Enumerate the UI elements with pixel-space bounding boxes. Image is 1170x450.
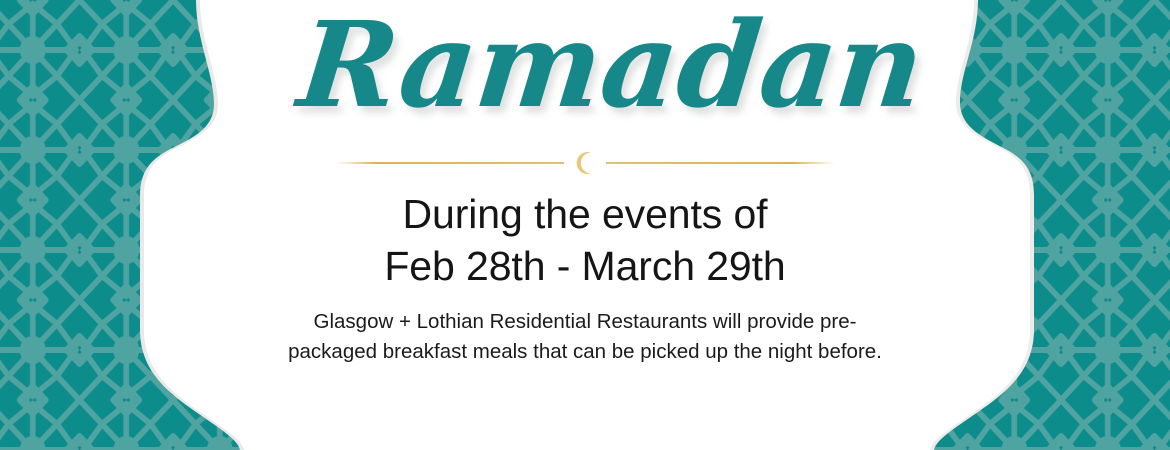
event-heading: During the events of Feb 28th - March 29… — [384, 188, 785, 293]
banner-title: Ramadan — [275, 2, 895, 142]
ramadan-script-lettering: Ramadan — [275, 2, 895, 142]
title-text: Ramadan — [290, 0, 931, 134]
heading-line-1: During the events of — [384, 188, 785, 240]
description-line-2: packaged breakfast meals that can be pic… — [285, 337, 885, 367]
divider-rule-left — [335, 162, 564, 164]
heading-line-2: Feb 28th - March 29th — [384, 240, 785, 292]
ramadan-banner: Ramadan During the events of Feb 28th - … — [0, 0, 1170, 450]
event-description: Glasgow + Lothian Residential Restaurant… — [285, 307, 885, 366]
description-line-1: Glasgow + Lothian Residential Restaurant… — [285, 307, 885, 337]
divider-rule-right — [606, 162, 835, 164]
ornamental-divider — [335, 148, 835, 178]
crescent-moon-icon — [570, 148, 600, 178]
banner-content: Ramadan During the events of Feb 28th - … — [250, 0, 920, 450]
